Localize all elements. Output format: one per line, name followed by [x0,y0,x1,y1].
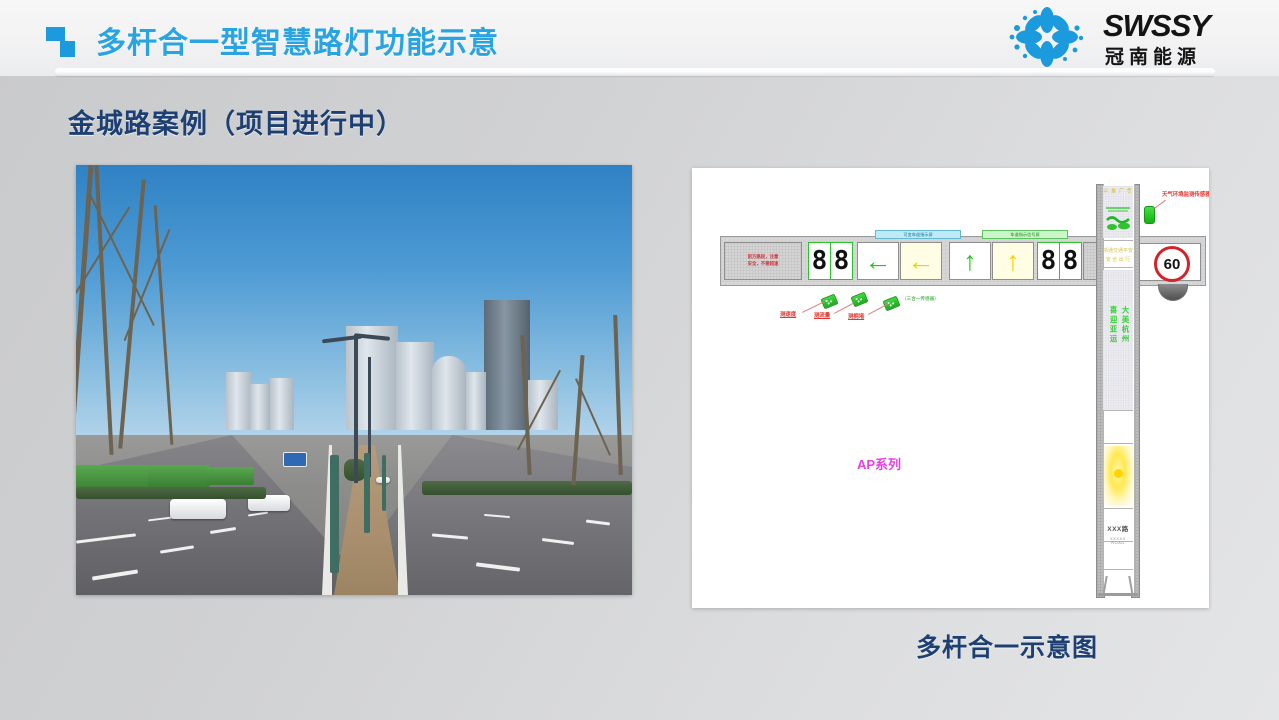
street-photo [76,165,632,595]
swssy-petal-icon [999,6,1095,68]
pole-ad-graphic [1103,198,1133,236]
pole-base [1098,570,1138,596]
lane-arrow-up-yellow: ↑ [992,242,1034,280]
slide-subtitle: 金城路案例（项目进行中） [68,102,404,141]
arrow-up-icon: ↑ [963,248,977,275]
page-title: 多杆合一型智慧路灯功能示意 [96,18,499,62]
pole-lower-segment [1103,542,1133,570]
pole-safety-line-1: 浙通交通平安 [1103,247,1133,255]
pole-road-nameplate: XXX路 XXXXX ROAD [1103,508,1133,542]
digit-value: 8 [834,248,850,274]
arrow-left-icon: ← [908,248,935,275]
photo-truck [148,465,210,487]
photo-car [170,499,226,519]
weather-sensor-icon [1144,206,1155,224]
traffic-sensor-icon [850,292,868,308]
sign-arm: 60 [1132,236,1206,286]
lane-arrow-up-green: ↑ [949,242,991,280]
led-message-board: 前方路段，注意 安全，不要超速 [724,242,802,280]
led-message-line-2: 安全，不要超速 [748,261,779,268]
countdown-display-right-ones: 8 [1059,242,1082,280]
pole-banner-screen: 喜迎亚运 大美杭州 [1103,270,1133,411]
digit-value: 8 [1063,248,1079,274]
pole-ad-screen: 公 益 广 告 [1103,186,1133,238]
road-name-main: XXX路 [1107,526,1129,533]
speed-limit-value: 60 [1164,257,1181,272]
logo-chinese-name: 冠南能源 [1105,42,1201,69]
sensor-label-congestion: 测拥堵 [848,312,864,320]
pole-blank-segment [1103,412,1133,444]
photo-truck [206,467,254,485]
arrow-up-icon: ↑ [1006,248,1020,275]
photo-skyline [226,300,632,430]
arrow-left-icon: ← [865,248,892,275]
gantry-caption-left: 可变车道指示屏 [875,230,961,239]
lamp-bulb-icon [1114,469,1123,478]
pole-banner-right: 喜迎亚运 [1108,306,1119,344]
ap-series-label: AP系列 [857,454,901,473]
pole-safety-band: 浙通交通平安 安 全 出 行 [1103,240,1133,268]
lane-arrow-left-yellow: ← [900,242,942,280]
countdown-display-left-tens: 8 [808,242,831,280]
sensor-label-speed: 测速度 [780,310,796,318]
photo-street-lamp [354,335,358,483]
header-square-icon [46,27,80,57]
digit-value: 8 [812,248,828,274]
countdown-display-left-ones: 8 [830,242,853,280]
led-message-line-1: 前方路段，注意 [748,254,779,261]
digit-value: 8 [1041,248,1057,274]
page-header: 多杆合一型智慧路灯功能示意 SWSSY 冠南能源 [0,0,1279,76]
pole-illuminated-panel [1103,446,1133,506]
gantry-caption-right: 车道指示信号屏 [982,230,1068,239]
lane-arrow-left-green: ← [857,242,899,280]
pole-schematic-diagram: 可变车道指示屏 车道指示信号屏 前方路段，注意 安全，不要超速 8 8 ← ← … [692,168,1209,608]
pole-ad-heading: 公 益 广 告 [1103,188,1133,194]
pole-safety-line-2: 安 全 出 行 [1103,256,1133,264]
speed-limit-sign: 60 [1154,246,1190,282]
photo-road-sign [283,452,307,467]
sensor-combined-note: （三合一传感器） [902,296,939,302]
pole-banner-left: 大美杭州 [1120,306,1131,344]
company-logo: SWSSY 冠南能源 [999,4,1261,70]
diagram-caption: 多杆合一示意图 [916,628,1098,664]
weather-sensor-label: 天气环境监测传感器 [1162,190,1209,198]
smart-pole: 公 益 广 告 浙通交通平安 安 全 出 行 喜迎亚运 大美杭州 [1096,184,1140,596]
logo-wordmark: SWSSY [1103,8,1210,44]
countdown-display-right-tens: 8 [1037,242,1060,280]
sensor-label-flow: 测流量 [814,311,830,319]
dome-camera-icon [1158,284,1188,301]
